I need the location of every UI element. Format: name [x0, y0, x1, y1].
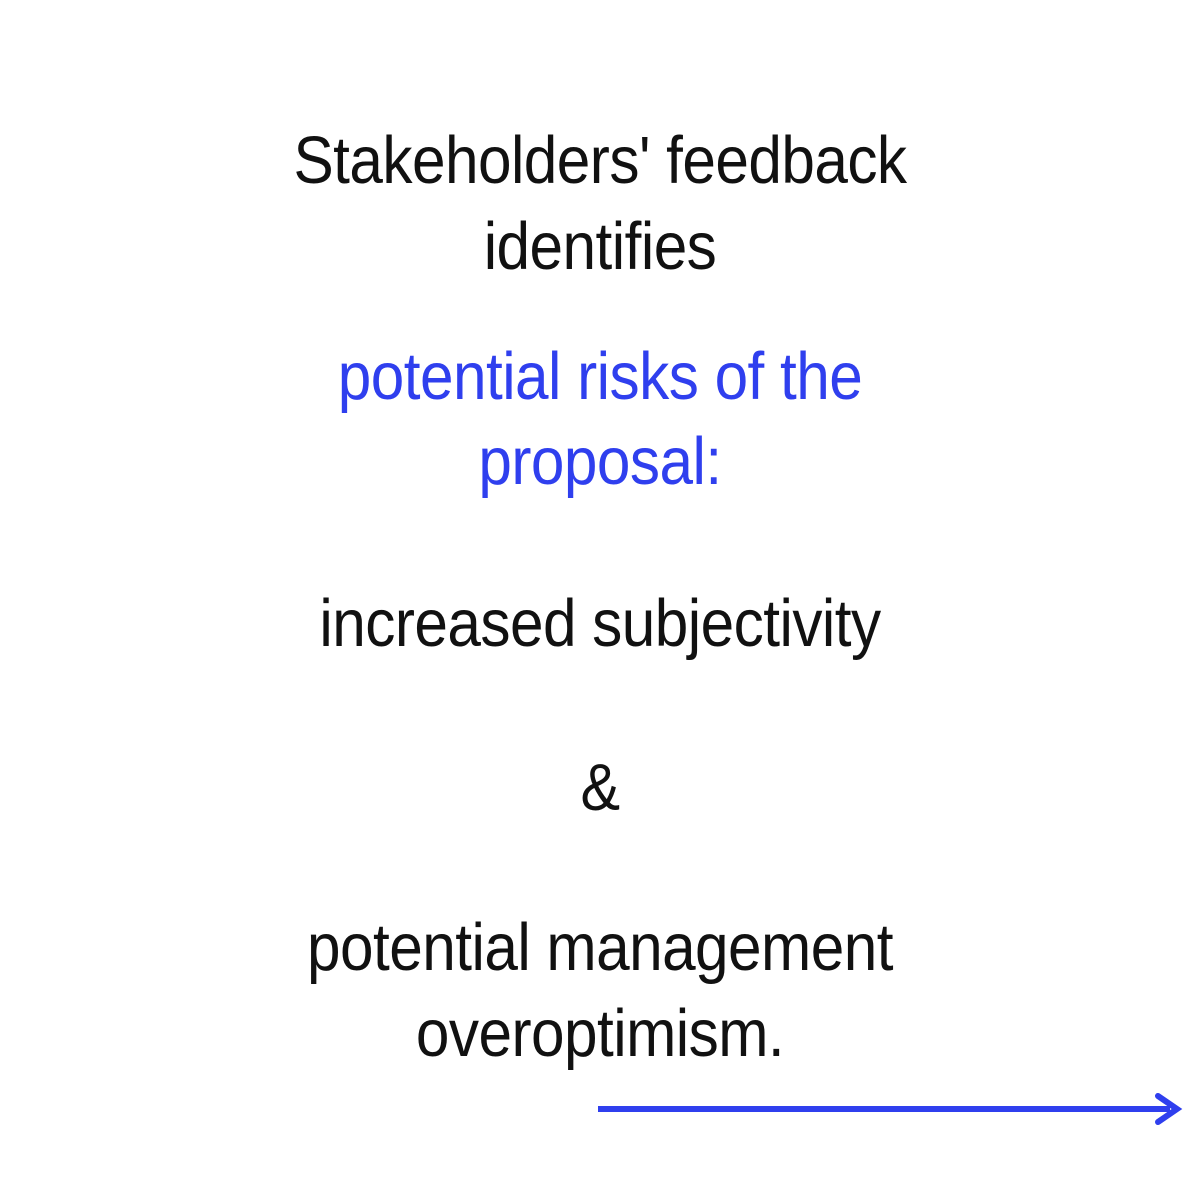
text-column: Stakeholders' feedback identifies potent… [190, 118, 1010, 1077]
risk-item-two: potential management overoptimism. [231, 905, 969, 1077]
conjunction-ampersand: & [231, 745, 969, 829]
risk-item-one: increased subjectivity [231, 581, 969, 667]
accent-statement-risks: potential risks of the proposal: [231, 334, 969, 506]
slide-canvas: Stakeholders' feedback identifies potent… [0, 0, 1200, 1200]
intro-statement: Stakeholders' feedback identifies [231, 118, 969, 290]
arrow-right-icon [592, 1086, 1188, 1132]
arrow-right-svg [592, 1086, 1188, 1132]
